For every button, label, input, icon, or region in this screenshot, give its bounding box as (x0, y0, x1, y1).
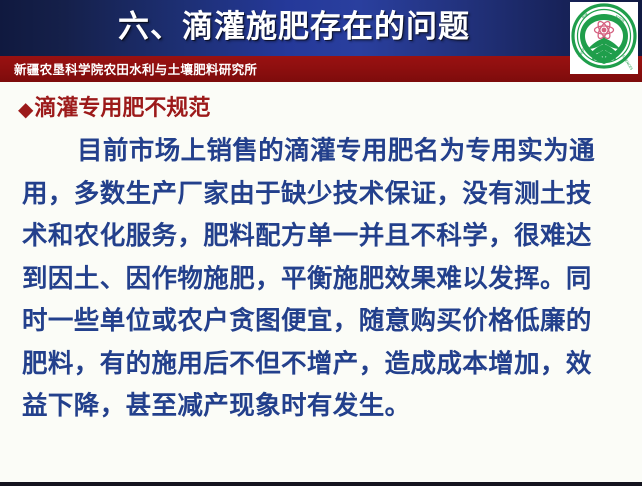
paragraph-block: 目前市场上销售的滴灌专用肥名为专用实为通 用，多数生产厂家由于缺少技术保证，没有… (22, 130, 620, 428)
page-title: 六、滴灌施肥存在的问题 (0, 4, 642, 50)
paragraph-line: 术和农化服务，肥料配方单一并且不科学，很难达 (22, 215, 620, 258)
presentation-slide: 六、滴灌施肥存在的问题 新疆农垦科学院农田水利与土壤肥料研究所 (0, 0, 642, 486)
paragraph-line: 益下降，甚至减产现象时有发生。 (22, 385, 620, 428)
bullet-heading-text: 滴灌专用肥不规范 (34, 95, 210, 121)
bullet-heading-row: ◆滴灌专用肥不规范 (18, 93, 642, 124)
paragraph-line: 目前市场上销售的滴灌专用肥名为专用实为通 (22, 130, 620, 173)
paragraph-line: 肥料，有的施用后不但不增产，造成成本增加，效 (22, 343, 620, 386)
paragraph-line: 用，多数生产厂家由于缺少技术保证，没有测土技 (22, 173, 620, 216)
institute-logo-icon: 新疆 科学院 XINJIANG SCIENCES (570, 2, 638, 74)
paragraph-line: 时一些单位或农户贪图便宜，随意购买价格低廉的 (22, 300, 620, 343)
slide-content: ◆滴灌专用肥不规范 目前市场上销售的滴灌专用肥名为专用实为通 用，多数生产厂家由… (0, 86, 642, 428)
paragraph-line: 到因土、因作物施肥，平衡施肥效果难以发挥。同 (22, 258, 620, 301)
institute-band: 新疆农垦科学院农田水利与土壤肥料研究所 (0, 56, 642, 82)
institute-name-label: 新疆农垦科学院农田水利与土壤肥料研究所 (14, 56, 257, 82)
diamond-bullet-icon: ◆ (18, 94, 33, 124)
slide-header-bar: 六、滴灌施肥存在的问题 (0, 0, 642, 56)
